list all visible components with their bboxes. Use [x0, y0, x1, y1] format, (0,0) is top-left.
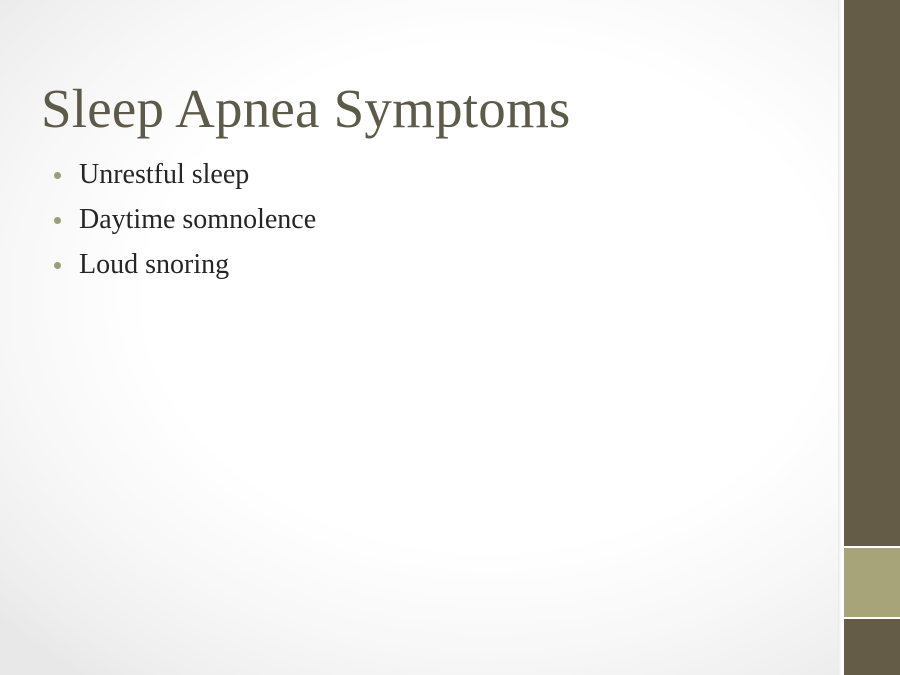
- list-item: Unrestful sleep: [48, 158, 808, 203]
- list-item: Daytime somnolence: [48, 203, 808, 248]
- bullet-dot-icon: [54, 172, 61, 179]
- bullet-dot-icon: [54, 262, 61, 269]
- slide-title: Sleep Apnea Symptoms: [41, 78, 811, 140]
- list-item-label: Loud snoring: [79, 248, 229, 282]
- accent-bar-middle: [844, 548, 900, 617]
- accent-bar-bottom: [844, 619, 900, 675]
- presentation-slide: Sleep Apnea Symptoms Unrestful sleep Day…: [0, 0, 900, 675]
- list-item-label: Unrestful sleep: [79, 158, 249, 192]
- list-item-label: Daytime somnolence: [79, 203, 316, 237]
- bullet-dot-icon: [54, 217, 61, 224]
- bullet-list: Unrestful sleep Daytime somnolence Loud …: [48, 158, 808, 293]
- list-item: Loud snoring: [48, 248, 808, 293]
- accent-bar-top: [844, 0, 900, 546]
